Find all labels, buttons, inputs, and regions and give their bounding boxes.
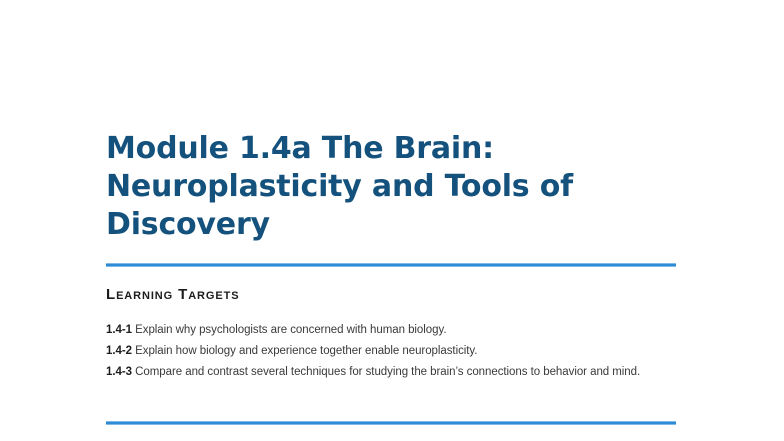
slide-content: Module 1.4a The Brain: Neuroplasticity a… [106,0,676,441]
divider-top [106,263,676,267]
target-code: 1.4-1 [106,324,132,336]
page-title: Module 1.4a The Brain: Neuroplasticity a… [106,130,611,244]
target-code: 1.4-2 [106,345,132,357]
list-item: 1.4-3 Compare and contrast several techn… [106,362,676,383]
target-text: Explain why psychologists are concerned … [135,324,446,336]
learning-targets-list: 1.4-1 Explain why psychologists are conc… [106,320,676,383]
divider-bottom [106,421,676,425]
list-item: 1.4-2 Explain how biology and experience… [106,341,676,362]
slide-canvas: Module 1.4a The Brain: Neuroplasticity a… [0,0,784,441]
section-heading-learning-targets: Learning Targets [106,286,239,303]
target-text: Compare and contrast several techniques … [135,366,640,378]
target-text: Explain how biology and experience toget… [135,345,477,357]
target-code: 1.4-3 [106,366,132,378]
list-item: 1.4-1 Explain why psychologists are conc… [106,320,676,341]
